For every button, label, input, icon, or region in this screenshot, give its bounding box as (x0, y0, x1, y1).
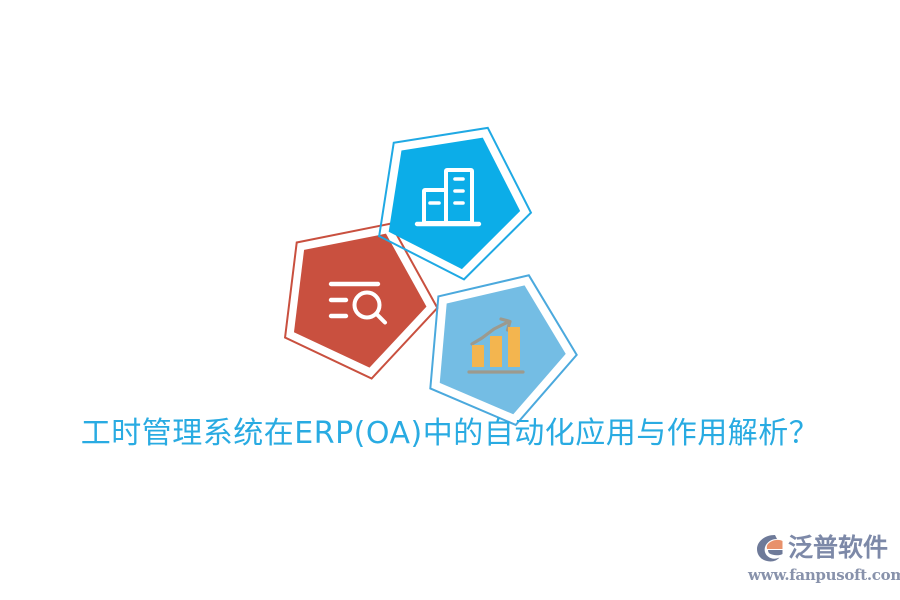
pentagon-cluster-graphic (270, 118, 600, 413)
fanpu-logo-mark (754, 532, 786, 564)
logo-wordmark: 泛普软件 (788, 532, 888, 564)
pentagon-light-blue-fill (438, 279, 572, 419)
logo-row: 泛普软件 (748, 530, 888, 566)
brand-logo-watermark: 泛普软件 www.fanpusoft.com (748, 530, 888, 588)
pentagon-light-blue (418, 268, 583, 433)
page-title: 工时管理系统在ERP(OA)中的自动化应用与作用解析？ (0, 414, 900, 454)
logo-url: www.fanpusoft.com (748, 566, 888, 584)
pentagon-blue (368, 118, 538, 288)
page-canvas: 工时管理系统在ERP(OA)中的自动化应用与作用解析？ 泛普软件 www.fan… (0, 0, 900, 600)
